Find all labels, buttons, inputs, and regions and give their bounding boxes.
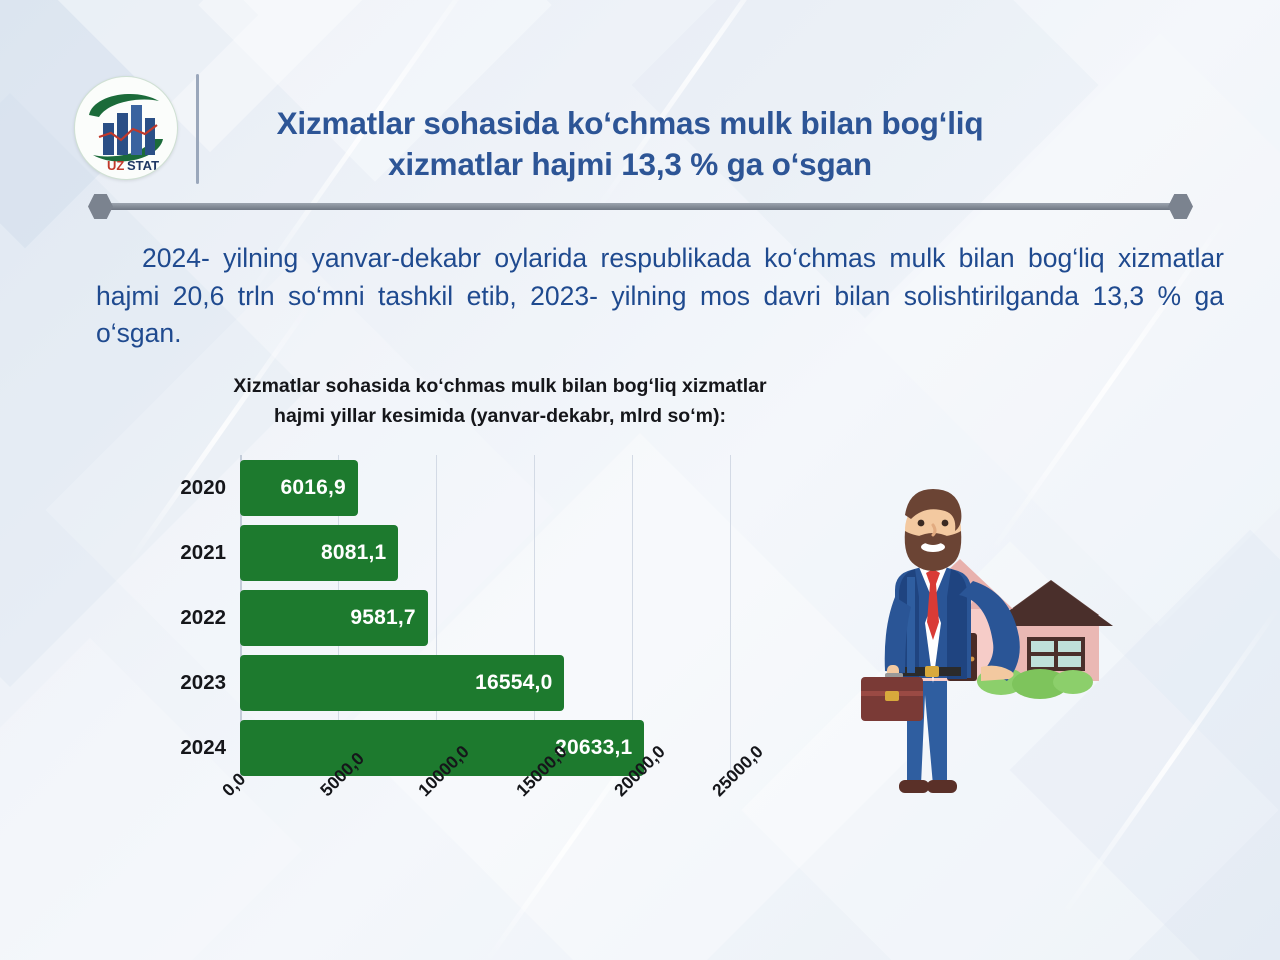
page-title: Xizmatlar sohasida ko‘chmas mulk bilan b… (200, 103, 1060, 185)
chart-bar-row: 20218081,1 (240, 525, 398, 581)
chart-bar: 6016,9 (240, 460, 358, 516)
bar-chart: 20206016,920218081,120229581,7202316554,… (240, 455, 730, 780)
header-vertical-rule (196, 74, 199, 184)
chart-gridline (730, 455, 731, 780)
page-title-line1: Xizmatlar sohasida ko‘chmas mulk bilan b… (200, 103, 1060, 144)
chart-category-label: 2023 (180, 671, 226, 695)
chart-bar-value-label: 6016,9 (280, 476, 345, 500)
uzstat-logo-icon: UZ STAT (75, 77, 177, 179)
businessman-holding-house-illustration (855, 485, 1155, 810)
page-title-line2: xizmatlar hajmi 13,3 % ga o‘sgan (200, 144, 1060, 185)
chart-category-label: 2024 (180, 736, 226, 760)
header-divider (96, 203, 1184, 210)
chart-title: Xizmatlar sohasida ko‘chmas mulk bilan b… (150, 372, 850, 431)
chart-bar: 16554,0 (240, 655, 564, 711)
chart-category-label: 2022 (180, 606, 226, 630)
chart-bar-row: 202316554,0 (240, 655, 564, 711)
chart-bar: 9581,7 (240, 590, 428, 646)
chart-bar-row: 20229581,7 (240, 590, 428, 646)
chart-bar-row: 20206016,9 (240, 460, 358, 516)
divider-cap-right-icon (1168, 194, 1193, 219)
divider-cap-left-icon (88, 194, 113, 219)
chart-title-line1: Xizmatlar sohasida ko‘chmas mulk bilan b… (150, 372, 850, 402)
chart-category-label: 2020 (180, 476, 226, 500)
logo-uz-text: UZ (107, 158, 124, 173)
chart-category-label: 2021 (180, 541, 226, 565)
chart-bar-value-label: 8081,1 (321, 541, 386, 565)
chart-bar-value-label: 9581,7 (350, 606, 415, 630)
logo-stat-text: STAT (127, 158, 159, 173)
chart-bar-value-label: 16554,0 (475, 671, 552, 695)
uzstat-logo: UZ STAT (74, 76, 176, 178)
body-paragraph: 2024- yilning yanvar-dekabr oylarida res… (96, 240, 1224, 353)
chart-bar: 8081,1 (240, 525, 398, 581)
chart-title-line2: hajmi yillar kesimida (yanvar-dekabr, ml… (150, 402, 850, 432)
